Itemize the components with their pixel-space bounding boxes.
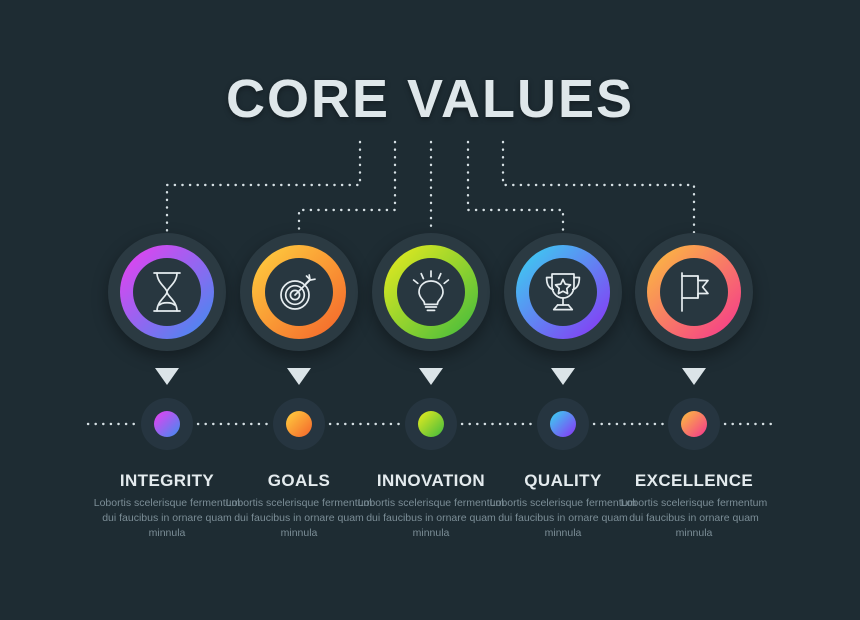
milestone-dot-excellence[interactable] (668, 398, 720, 450)
dot-fill (550, 411, 576, 437)
dot-fill (286, 411, 312, 437)
value-node-quality[interactable] (504, 233, 622, 351)
value-node-integrity[interactable] (108, 233, 226, 351)
dot-fill (681, 411, 707, 437)
value-node-excellence[interactable] (635, 233, 753, 351)
milestone-dot-integrity[interactable] (141, 398, 193, 450)
dot-fill (418, 411, 444, 437)
arrow-down-quality (551, 368, 575, 385)
caption-title: EXCELLENCE (606, 472, 782, 489)
value-node-goals[interactable] (240, 233, 358, 351)
lightbulb-icon (372, 233, 490, 351)
dot-fill (154, 411, 180, 437)
arrow-down-integrity (155, 368, 179, 385)
page-title: CORE VALUES (0, 72, 860, 126)
milestone-dot-innovation[interactable] (405, 398, 457, 450)
target-arrow-icon (240, 233, 358, 351)
infographic-canvas: CORE VALUES (0, 0, 860, 620)
flag-icon (635, 233, 753, 351)
caption-excellence: EXCELLENCE Lobortis scelerisque fermentu… (606, 472, 782, 542)
hourglass-icon (108, 233, 226, 351)
milestone-dot-quality[interactable] (537, 398, 589, 450)
arrow-down-excellence (682, 368, 706, 385)
milestone-dot-row (0, 398, 860, 452)
milestone-dot-goals[interactable] (273, 398, 325, 450)
caption-description: Lobortis scelerisque fermentum dui fauci… (606, 496, 782, 542)
trophy-icon (504, 233, 622, 351)
arrow-down-innovation (419, 368, 443, 385)
value-node-innovation[interactable] (372, 233, 490, 351)
arrow-down-goals (287, 368, 311, 385)
